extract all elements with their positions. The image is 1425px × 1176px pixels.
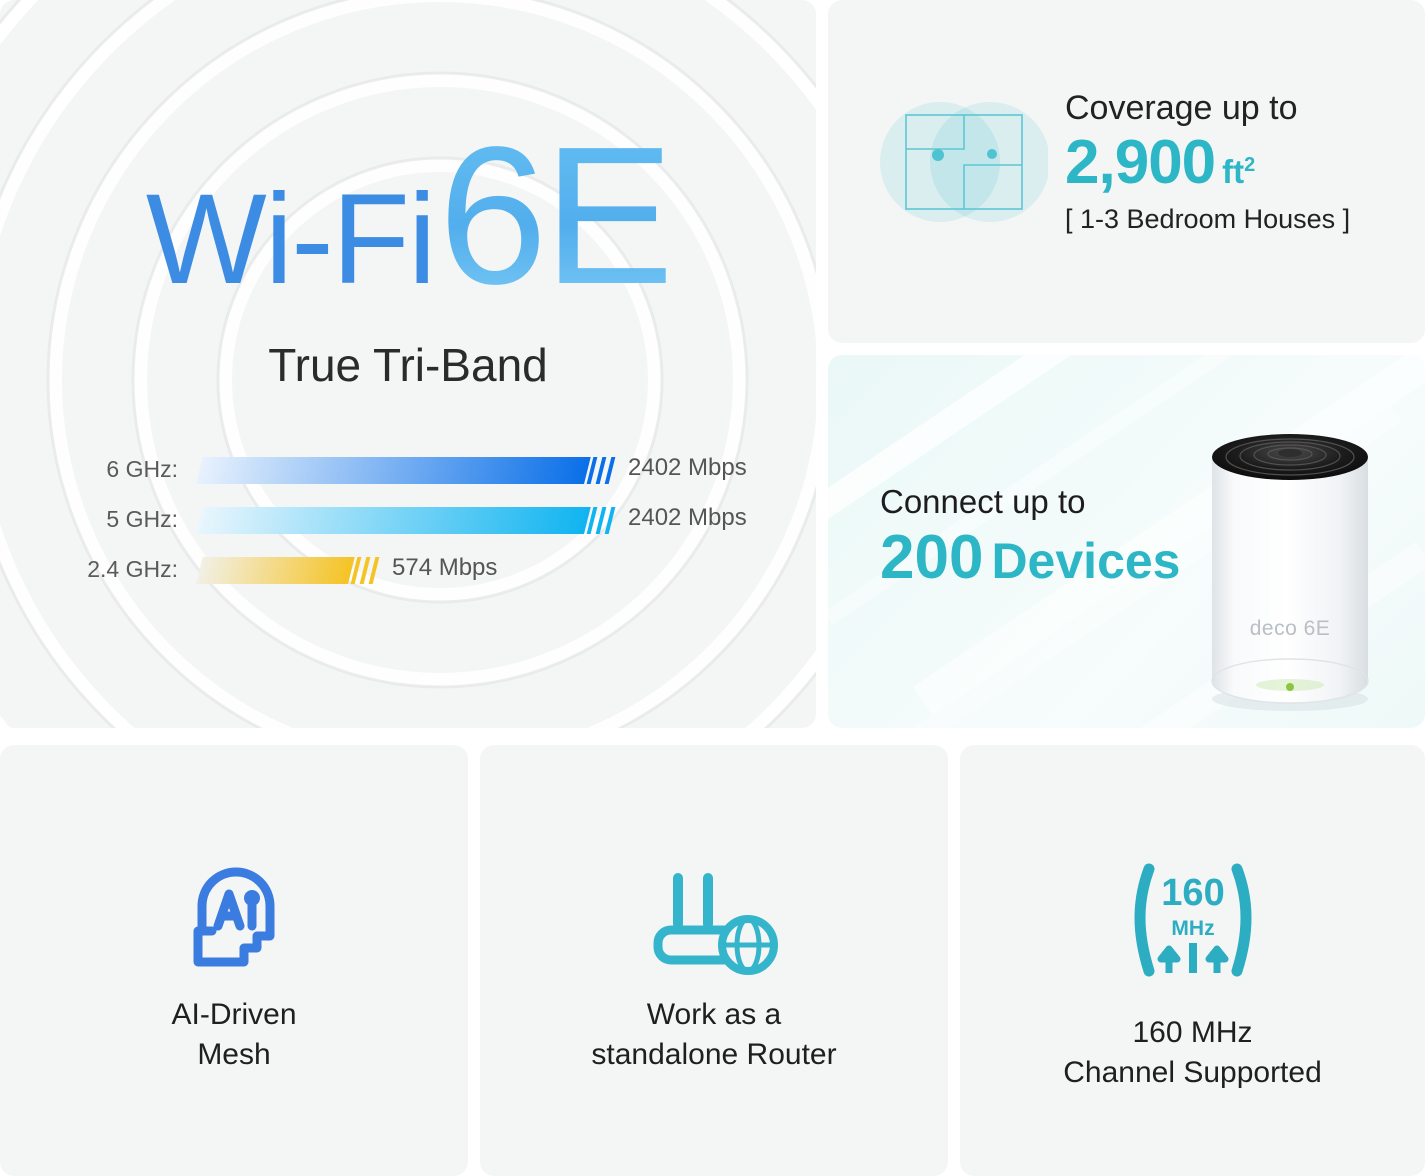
infographic-page: Wi-Fi6E True Tri-Band 6 GHz:2402 Mbps5 G… [0,0,1425,1176]
feature-card-160mhz: 160 MHz 160 MHz Channel Supported [960,745,1425,1176]
connect-text: Connect up to 200Devices [880,483,1181,589]
feature1-line2: Mesh [197,1038,270,1071]
coverage-line1: Coverage up to [1065,88,1350,128]
feature1-line1: AI-Driven [171,998,296,1031]
generation-6e: 6E [438,106,670,325]
coverage-number: 2,900 [1065,128,1215,197]
band-bar [196,457,584,484]
feature-card-standalone-router: Work as a standalone Router [480,745,948,1176]
feature-label-160mhz: 160 MHz Channel Supported [980,1013,1405,1093]
coverage-note: [ 1-3 Bedroom Houses ] [1065,204,1350,235]
band-bar-fill [196,457,591,484]
band-label: 2.4 GHz: [0,556,178,583]
band-row: 2.4 GHz:574 Mbps [0,548,816,598]
band-value: 2402 Mbps [628,504,747,532]
coverage-unit-exponent: 2 [1244,154,1255,176]
band-bar-fill [196,507,591,534]
connect-value: 200Devices [880,527,1181,589]
wifi6e-logo: Wi-Fi6E [0,118,816,314]
band-bar-ticks [354,557,384,584]
floor-plan-coverage-icon [880,97,1048,227]
feature2-line1: Work as a [647,998,782,1031]
icon-mhz-text: MHz [1171,917,1214,940]
band-bar [196,507,584,534]
band-bar-ticks [590,507,620,534]
band-row: 6 GHz:2402 Mbps [0,448,816,498]
coverage-unit: ft2 [1222,153,1255,190]
hero-wifi6e-card: Wi-Fi6E True Tri-Band 6 GHz:2402 Mbps5 G… [0,0,816,728]
channel-160mhz-icon: 160 MHz [960,853,1425,983]
feature-label-standalone-router: Work as a standalone Router [500,995,928,1075]
band-label: 6 GHz: [0,456,178,483]
coverage-value: 2,900ft2 [1065,132,1350,194]
band-bar [196,557,348,584]
feature2-line2: standalone Router [591,1038,836,1071]
coverage-text: Coverage up to 2,900ft2 [ 1-3 Bedroom Ho… [1065,88,1350,235]
hero-subtitle: True Tri-Band [0,338,816,392]
feature3-line1: 160 MHz [1132,1016,1252,1049]
coverage-card: Coverage up to 2,900ft2 [ 1-3 Bedroom Ho… [828,0,1425,343]
icon-160-text: 160 [1161,872,1224,914]
connect-number: 200 [880,523,983,592]
band-label: 5 GHz: [0,506,178,533]
feature3-line2: Channel Supported [1063,1056,1322,1089]
deco-brand-text: deco 6E [1250,617,1331,640]
router-globe-icon [480,853,948,983]
connect-word: Devices [991,533,1180,589]
band-bar-ticks [590,457,620,484]
band-value: 2402 Mbps [628,454,747,482]
wifi-word: Wi-Fi [146,168,435,311]
band-row: 5 GHz:2402 Mbps [0,498,816,548]
deco-mesh-router: deco 6E [1180,413,1400,713]
feature-label-ai-mesh: AI-Driven Mesh [20,995,448,1075]
connect-devices-card: Connect up to 200Devices [828,355,1425,728]
connect-line1: Connect up to [880,483,1181,521]
band-speed-list: 6 GHz:2402 Mbps5 GHz:2402 Mbps2.4 GHz:57… [0,448,816,598]
feature-card-ai-mesh: AI-Driven Mesh [0,745,468,1176]
band-bar-fill [196,557,355,584]
ai-head-icon [0,853,468,983]
band-value: 574 Mbps [392,554,497,582]
